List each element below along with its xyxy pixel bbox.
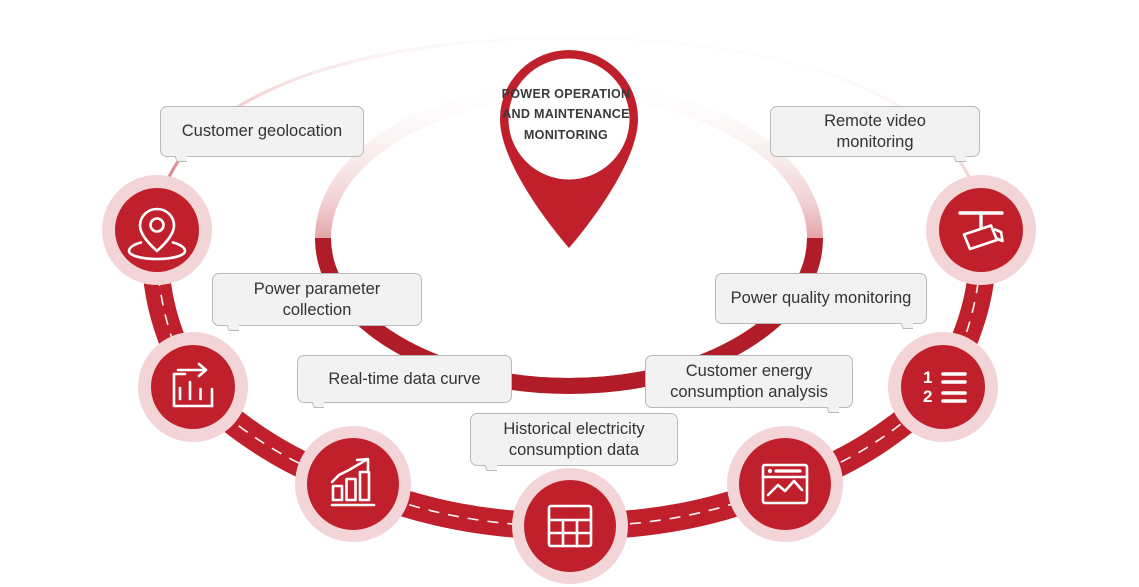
label-text: Power quality monitoring: [731, 288, 912, 309]
label-text: Customer geolocation: [182, 121, 343, 142]
label-real-time-data-curve[interactable]: Real-time data curve: [297, 355, 512, 403]
node-customer-geolocation[interactable]: [102, 175, 212, 285]
label-customer-geolocation[interactable]: Customer geolocation: [160, 106, 364, 157]
label-text: Historical electricity consumption data: [503, 419, 644, 460]
node-customer-energy-consumption-analysis[interactable]: [727, 426, 843, 542]
diagram-canvas: 1 2 POWER OPERATION AND MAINTENANCE MONI…: [0, 0, 1139, 587]
node-real-time-data-curve[interactable]: [295, 426, 411, 542]
node-power-parameter-collection[interactable]: [138, 332, 248, 442]
page-title: POWER OPERATION AND MAINTENANCE MONITORI…: [484, 84, 648, 145]
label-power-quality-monitoring[interactable]: Power quality monitoring: [715, 273, 927, 324]
node-power-quality-monitoring[interactable]: [888, 332, 998, 442]
center-map-pin: [500, 50, 638, 248]
label-historical-electricity-consumption-data[interactable]: Historical electricity consumption data: [470, 413, 678, 466]
label-customer-energy-consumption-analysis[interactable]: Customer energy consumption analysis: [645, 355, 853, 408]
node-historical-electricity-consumption-data[interactable]: [512, 468, 628, 584]
label-text: Customer energy consumption analysis: [670, 361, 828, 402]
label-text: Real-time data curve: [328, 369, 480, 390]
svg-text:2: 2: [923, 387, 932, 406]
label-text: Remote video monitoring: [785, 111, 965, 152]
label-remote-video-monitoring[interactable]: Remote video monitoring: [770, 106, 980, 157]
label-text: Power parameter collection: [254, 279, 381, 320]
label-power-parameter-collection[interactable]: Power parameter collection: [212, 273, 422, 326]
svg-text:1: 1: [923, 368, 932, 387]
